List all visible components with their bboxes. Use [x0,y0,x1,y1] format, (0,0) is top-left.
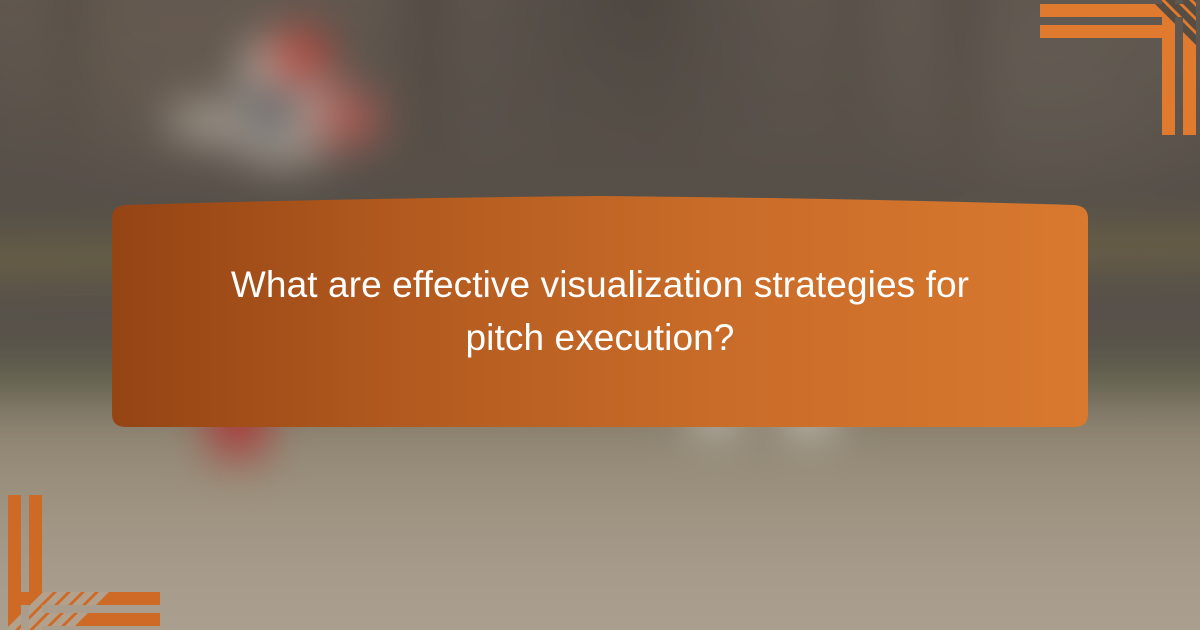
screenshot-canvas: What are effective visualization strateg… [0,0,1200,630]
question-text: What are effective visualization strateg… [205,259,995,364]
question-card: What are effective visualization strateg… [100,196,1100,428]
question-text-container: What are effective visualization strateg… [100,196,1100,428]
